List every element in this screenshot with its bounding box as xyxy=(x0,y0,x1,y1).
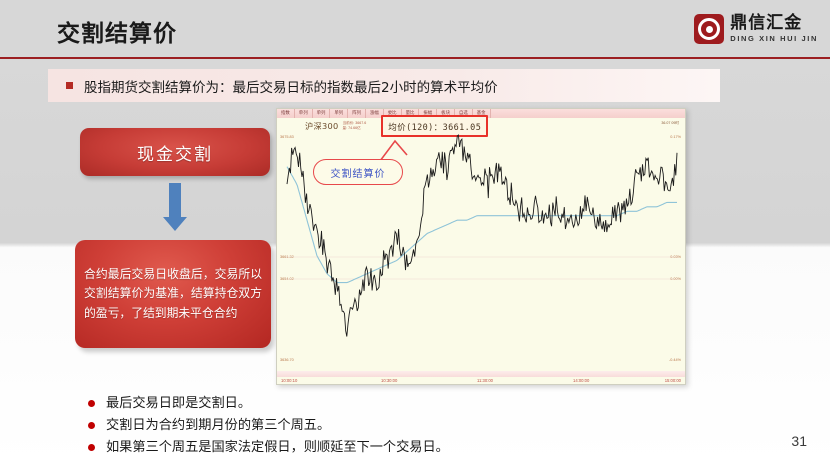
bullet-text-0: 最后交易日即是交割日。 xyxy=(106,396,251,412)
key-points-list: 最后交易日即是交割日。 交割日为合约到期月份的第三个周五。 如果第三个周五是国家… xyxy=(88,396,449,462)
settlement-explanation-card: 合约最后交易日收盘后，交易所以交割结算价为基准，结算持仓双方的盈亏，了结到期未平… xyxy=(75,240,271,348)
header-accent-rule xyxy=(0,57,830,59)
x-axis-label-3: 14:00:00 xyxy=(573,378,589,383)
cash-settlement-pill: 现金交割 xyxy=(80,128,270,176)
trading-software-screenshot: 指数 单列 单列 单列 阵列 涨幅 委比 量比 振幅 板块 自选 基金 沪深30… xyxy=(276,108,686,385)
x-axis-label-1: 10:30:00 xyxy=(381,378,397,383)
plot-base-bar xyxy=(277,371,685,377)
x-axis-label-4: 15:00:00 xyxy=(665,378,681,383)
bullet-dot-icon xyxy=(88,444,95,451)
logo-latin-name: DING XIN HUI JIN xyxy=(730,35,818,43)
list-item: 如果第三个周五是国家法定假日，则顺延至下一个交易日。 xyxy=(88,440,449,456)
x-axis-label-0: 10:00:10 xyxy=(281,378,297,383)
definition-banner: 股指期货交割结算价为：最后交易日标的指数最后2小时的算术平均价 xyxy=(48,69,720,102)
bullet-text-2: 如果第三个周五是国家法定假日，则顺延至下一个交易日。 xyxy=(106,440,449,456)
banner-text: 股指期货交割结算价为：最后交易日标的指数最后2小时的算术平均价 xyxy=(84,76,498,96)
cash-settlement-label: 现金交割 xyxy=(137,140,213,165)
slide-root: 交割结算价 鼎信汇金 DING XIN HUI JIN 股指期货交割结算价为：最… xyxy=(0,0,830,467)
bullet-text-1: 交割日为合约到期月份的第三个周五。 xyxy=(106,418,330,434)
settlement-explanation-text: 合约最后交易日收盘后，交易所以交割结算价为基准，结算持仓双方的盈亏，了结到期未平… xyxy=(84,265,262,322)
logo-emblem-icon xyxy=(694,14,724,44)
page-title: 交割结算价 xyxy=(57,14,177,48)
page-number: 31 xyxy=(791,433,807,449)
bullet-dot-icon xyxy=(88,400,95,407)
down-arrow-icon xyxy=(163,183,187,231)
list-item: 交割日为合约到期月份的第三个周五。 xyxy=(88,418,449,434)
x-axis-label-2: 11:30:00 xyxy=(477,378,493,383)
brand-logo: 鼎信汇金 DING XIN HUI JIN xyxy=(694,9,818,49)
banner-bullet-icon xyxy=(66,82,73,89)
list-item: 最后交易日即是交割日。 xyxy=(88,396,449,412)
logo-chinese-name: 鼎信汇金 xyxy=(730,15,818,32)
bullet-dot-icon xyxy=(88,422,95,429)
price-plot xyxy=(277,109,686,385)
